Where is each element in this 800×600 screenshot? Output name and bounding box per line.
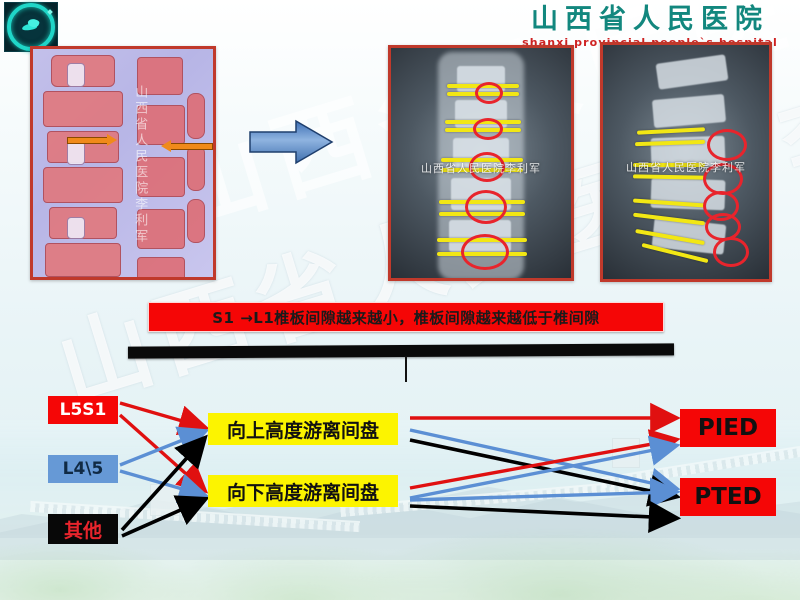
logo-ring (7, 3, 55, 51)
wall-tower (612, 438, 640, 468)
flow-middle-downward-migration[interactable]: 向下高度游离间盘 (208, 475, 398, 507)
dove-icon (20, 19, 42, 35)
spinal-canal (67, 217, 85, 239)
spinous-process (187, 145, 205, 191)
wall-tower (150, 484, 180, 516)
flow-input-l4-5[interactable]: L4\5 (48, 455, 118, 483)
lumbar-xray-ap-view[interactable]: 山西省人民医院李利军 (388, 45, 574, 281)
vertebra-lateral (137, 257, 185, 280)
vertebra-ap (43, 167, 123, 203)
orange-pointer-arrow (67, 137, 109, 144)
lumbar-xray-lateral-view[interactable]: 山西省人民医院李利军 (600, 42, 772, 282)
xray-ap-canvas: 山西省人民医院李利军 (391, 48, 571, 278)
interlaminar-space-circle (465, 190, 507, 224)
interlaminar-space-circle (707, 129, 747, 161)
spinous-process (187, 93, 205, 139)
flow-input-l5s1[interactable]: L5S1 (48, 396, 118, 424)
interlaminar-space-circle (473, 118, 503, 140)
spinous-process (187, 199, 205, 243)
flow-input-other[interactable]: 其他 (48, 514, 118, 544)
spinal-canal (67, 63, 85, 87)
black-separator-bar (128, 343, 674, 358)
blue-block-arrow-icon (248, 118, 334, 166)
anatomy-watermark: 山西省人民医院李利军 (130, 85, 149, 245)
lumbar-anatomy-diagram[interactable]: 山西省人民医院李利军 (30, 46, 216, 280)
logo-sparkle-icon (47, 9, 53, 15)
anatomy-canvas: 山西省人民医院李利军 (33, 49, 213, 277)
conclusion-banner-text: S1 →L1椎板间隙越来越小，椎板间隙越来越低于椎间隙 (212, 307, 600, 328)
interlaminar-space-circle (475, 82, 503, 104)
spinal-canal (67, 141, 85, 165)
xray-lateral-canvas: 山西省人民医院李利军 (603, 45, 769, 279)
interlaminar-space-circle (713, 237, 749, 267)
flow-middle-upward-migration[interactable]: 向上高度游离间盘 (208, 413, 398, 445)
flow-output-pied[interactable]: PIED (680, 409, 776, 447)
orange-pointer-arrow (169, 143, 213, 150)
conclusion-banner: S1 →L1椎板间隙越来越小，椎板间隙越来越低于椎间隙 (148, 302, 664, 332)
separator-stem (405, 356, 407, 382)
interlaminar-space-circle (461, 234, 509, 270)
presentation-slide: 山西省人民医院 山西省人民医院 李利军 山西省人民医院 shanxi provi… (0, 0, 800, 600)
vertebra-ap (45, 243, 121, 277)
flow-output-pted[interactable]: PTED (680, 478, 776, 516)
vertebra-ap (43, 91, 123, 127)
xray-ap-watermark: 山西省人民医院李利军 (421, 160, 541, 176)
hospital-title-cn: 山西省人民医院 (510, 6, 790, 34)
hospital-logo (4, 2, 58, 52)
xray-lateral-watermark: 山西省人民医院李利军 (626, 159, 746, 175)
